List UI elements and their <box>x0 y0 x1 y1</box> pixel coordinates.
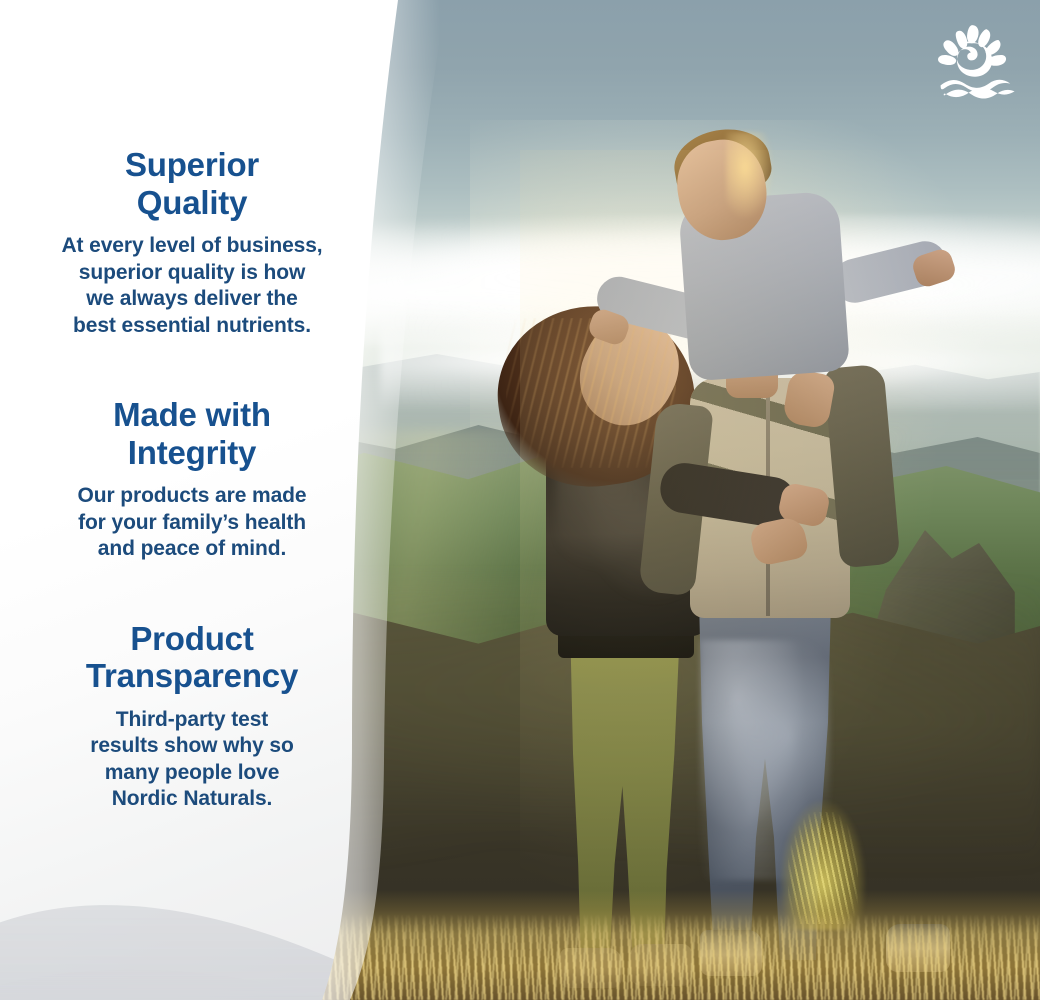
child-hair-highlight <box>726 132 774 220</box>
mother-hair-highlight <box>506 318 676 468</box>
value-props-list: Superior Quality At every level of busin… <box>0 0 404 1000</box>
value-block-integrity: Made with Integrity Our products are mad… <box>24 396 360 563</box>
transparency-heading: Product Transparency <box>24 620 360 695</box>
sun-wave-logo-icon <box>932 20 1018 106</box>
integrity-heading: Made with Integrity <box>24 396 360 471</box>
transparency-body: Third-party test results show why so man… <box>24 707 360 813</box>
brand-values-banner: Superior Quality At every level of busin… <box>0 0 1040 1000</box>
quality-heading: Superior Quality <box>24 146 360 221</box>
quality-body: At every level of business, superior qua… <box>24 233 360 339</box>
value-block-transparency: Product Transparency Third-party test re… <box>24 620 360 813</box>
integrity-body: Our products are made for your family’s … <box>24 483 360 562</box>
value-block-quality: Superior Quality At every level of busin… <box>24 146 360 339</box>
